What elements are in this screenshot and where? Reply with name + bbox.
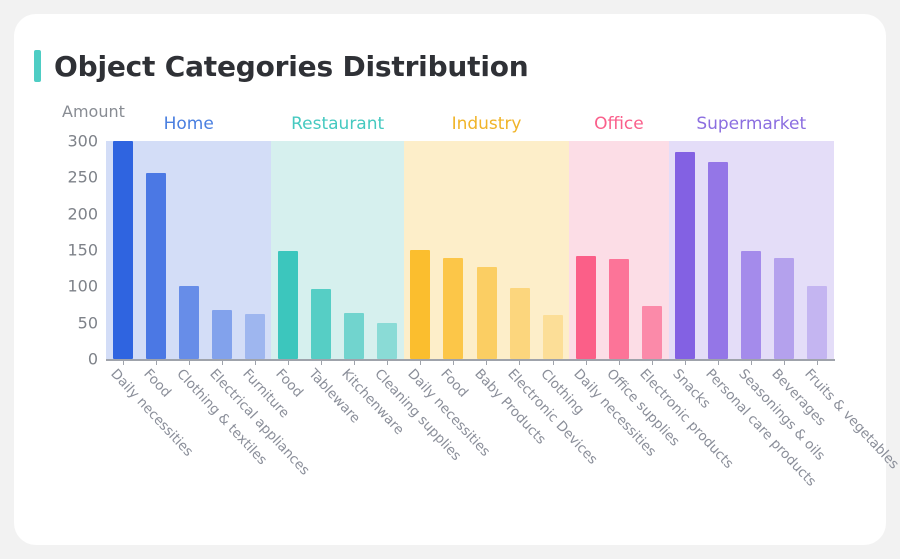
bar-slot (470, 141, 503, 359)
y-axis-tick-label: 200 (67, 204, 98, 223)
x-axis-tick-mark (553, 359, 554, 365)
bar[interactable] (675, 152, 695, 359)
x-axis-tick (238, 359, 271, 365)
x-axis-tick-mark (420, 359, 421, 365)
bar[interactable] (443, 258, 463, 359)
x-axis-tick-mark (189, 359, 190, 365)
bar-slot (702, 141, 735, 359)
x-axis-tick-mark (751, 359, 752, 365)
bar-slot (271, 141, 304, 359)
x-axis-tick-mark (321, 359, 322, 365)
group-label-home: Home (106, 114, 271, 134)
x-axis-tick (503, 359, 536, 365)
x-axis-tick (304, 359, 337, 365)
x-axis-tick (734, 359, 767, 365)
y-axis-tick-label: 250 (67, 168, 98, 187)
bar[interactable] (576, 256, 596, 359)
group-label-industry: Industry (404, 114, 569, 134)
bar[interactable] (377, 323, 397, 359)
bar[interactable] (774, 258, 794, 359)
screenshot-root: Object Categories Distribution Amount 05… (0, 0, 900, 559)
x-axis-tick-mark (784, 359, 785, 365)
y-axis-tick-label: 150 (67, 241, 98, 260)
x-axis-tick-mark (453, 359, 454, 365)
group-label-office: Office (569, 114, 668, 134)
x-axis-tick (437, 359, 470, 365)
bar-slot (139, 141, 172, 359)
bar[interactable] (245, 314, 265, 359)
bar-group-industry: Industry (404, 141, 569, 359)
x-axis-tick (172, 359, 205, 365)
bar[interactable] (212, 310, 232, 359)
bar-slot (536, 141, 569, 359)
plot-area: 050100150200250300 HomeRestaurantIndustr… (106, 141, 834, 359)
x-axis-tick (536, 359, 569, 365)
x-axis-tick-mark (685, 359, 686, 365)
bar-slot (801, 141, 834, 359)
x-axis-tick (404, 359, 437, 365)
bar[interactable] (708, 162, 728, 359)
bar[interactable] (179, 286, 199, 359)
x-axis-tick (801, 359, 834, 365)
x-axis-tick-mark (222, 359, 223, 365)
page-title: Object Categories Distribution (54, 50, 529, 83)
group-label-supermarket: Supermarket (669, 114, 834, 134)
bar-slot (669, 141, 702, 359)
bar-group-office: Office (569, 141, 668, 359)
x-axis-tick-mark (156, 359, 157, 365)
x-axis-tick (635, 359, 668, 365)
bar[interactable] (278, 251, 298, 359)
bar[interactable] (344, 313, 364, 359)
bar-slot (106, 141, 139, 359)
bar-slot (437, 141, 470, 359)
bar-group-home: Home (106, 141, 271, 359)
x-axis-tick-mark (619, 359, 620, 365)
y-axis-tick-label: 50 (78, 313, 98, 332)
bar-group-supermarket: Supermarket (669, 141, 834, 359)
bar[interactable] (642, 306, 662, 359)
bar[interactable] (807, 286, 827, 359)
bar-slot (371, 141, 404, 359)
bar[interactable] (113, 141, 133, 359)
bar-slot (338, 141, 371, 359)
bar-group-restaurant: Restaurant (271, 141, 403, 359)
x-axis-tick-mark (486, 359, 487, 365)
x-axis-tick (569, 359, 602, 365)
x-axis-tick-mark (387, 359, 388, 365)
x-axis-tick (768, 359, 801, 365)
x-axis-tick-mark (288, 359, 289, 365)
bar-slot (602, 141, 635, 359)
y-axis-tick-label: 0 (88, 350, 98, 369)
bar-groups: HomeRestaurantIndustryOfficeSupermarket (106, 141, 834, 359)
bar[interactable] (609, 259, 629, 359)
x-axis-labels: Daily necessitiesFoodClothing & textiles… (106, 366, 834, 536)
x-axis-tick (271, 359, 304, 365)
bar-slot (503, 141, 536, 359)
bar[interactable] (477, 267, 497, 359)
bar-slot (305, 141, 338, 359)
bar-slot (569, 141, 602, 359)
bar[interactable] (410, 250, 430, 359)
chart-header: Object Categories Distribution (34, 46, 529, 86)
bar[interactable] (741, 251, 761, 359)
title-accent-bar (34, 50, 41, 82)
x-axis-tick (106, 359, 139, 365)
x-axis-tick (668, 359, 701, 365)
bar[interactable] (543, 315, 563, 359)
x-axis-tick-mark (718, 359, 719, 365)
bar-slot (635, 141, 668, 359)
y-axis-tick-label: 100 (67, 277, 98, 296)
x-axis-tick (205, 359, 238, 365)
bar-slot (768, 141, 801, 359)
x-axis-tick-mark (255, 359, 256, 365)
bar-slot (205, 141, 238, 359)
x-axis-tick-marks (106, 359, 834, 365)
x-axis-tick (470, 359, 503, 365)
bar-slot (735, 141, 768, 359)
bar[interactable] (510, 288, 530, 359)
x-axis-tick (338, 359, 371, 365)
bar[interactable] (146, 173, 166, 359)
x-axis-tick (602, 359, 635, 365)
x-axis-tick (701, 359, 734, 365)
bar-slot (238, 141, 271, 359)
x-axis-tick-mark (652, 359, 653, 365)
x-axis-tick-mark (817, 359, 818, 365)
x-axis-tick-mark (354, 359, 355, 365)
x-axis-tick (371, 359, 404, 365)
bar-slot (404, 141, 437, 359)
x-axis-tick-mark (586, 359, 587, 365)
x-axis-tick-mark (519, 359, 520, 365)
group-label-restaurant: Restaurant (271, 114, 403, 134)
x-axis-tick (139, 359, 172, 365)
x-axis-tick-mark (123, 359, 124, 365)
bar-slot (172, 141, 205, 359)
chart-card: Object Categories Distribution Amount 05… (14, 14, 886, 545)
bar[interactable] (311, 289, 331, 359)
y-axis-tick-label: 300 (67, 132, 98, 151)
